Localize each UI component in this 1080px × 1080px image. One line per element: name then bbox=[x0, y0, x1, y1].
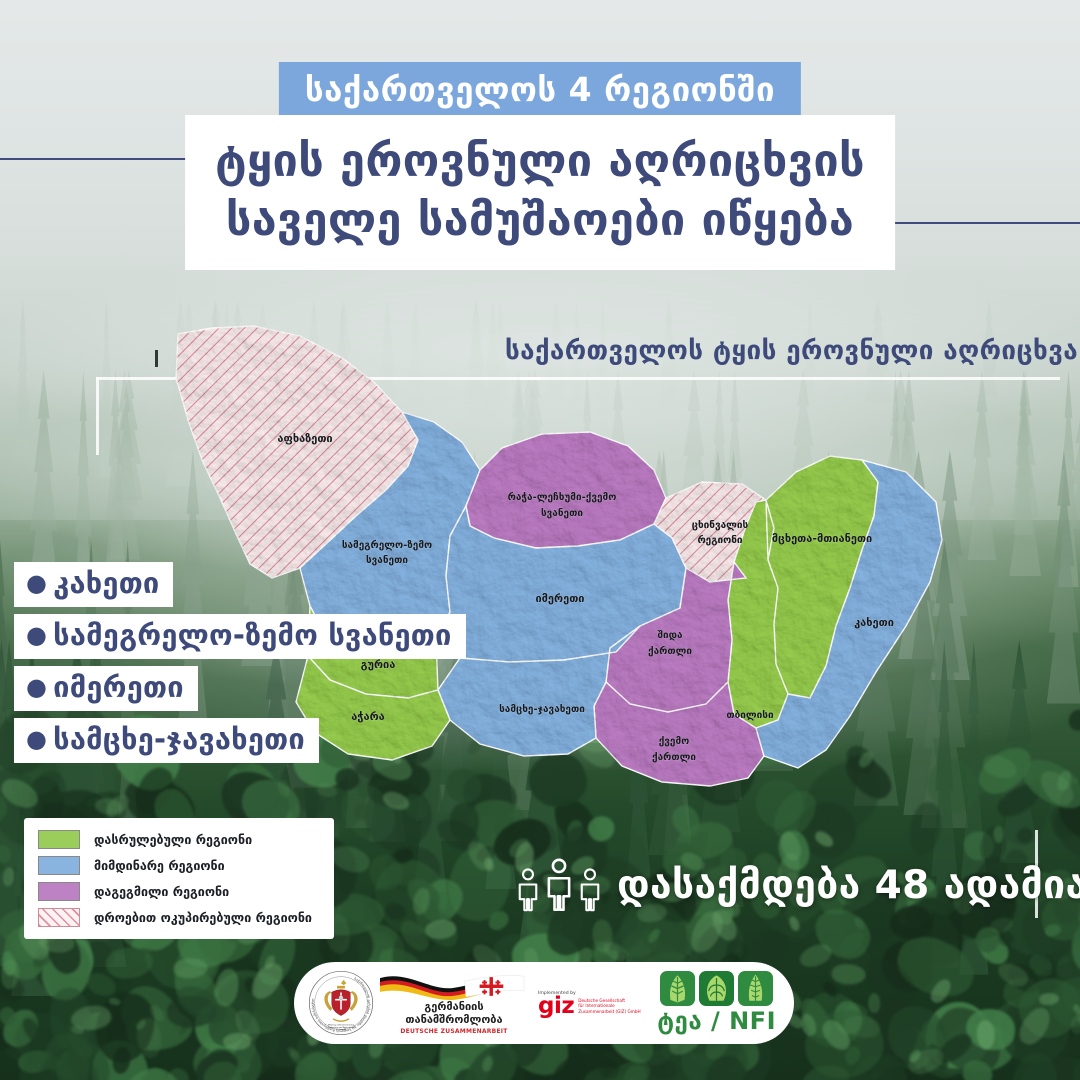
bullet-dot-icon: ● bbox=[26, 725, 47, 753]
legend-row-occupied: დროებით ოკუპირებული რეგიონი bbox=[38, 908, 312, 927]
nfi-logo: ტეა / NFI bbox=[657, 971, 776, 1035]
bullet-dot-icon: ● bbox=[26, 569, 47, 597]
german-coop-label-1: გერმანიის bbox=[378, 1001, 530, 1013]
leaf-icon-1 bbox=[660, 971, 695, 1006]
region-label-kvemo-1: ქვემო bbox=[659, 735, 690, 747]
region-label-tskhinvali-2: რეგიონი bbox=[697, 534, 742, 546]
ministry-seal-logo: საქართველოს გარემოს დაცვისა და სოფლის მე… bbox=[308, 970, 374, 1036]
legend-row-planned: დაგეგმილი რეგიონი bbox=[38, 882, 312, 901]
bullet-item-3: ●სამცხე-ჯავახეთი bbox=[14, 718, 319, 763]
region-label-samegrelo-1: სამეგრელო-ზემო bbox=[342, 539, 432, 551]
bullet-label-0: კახეთი bbox=[53, 566, 159, 600]
person-icon bbox=[515, 868, 541, 912]
german-coop-label-2: თანამშრომლობა bbox=[378, 1014, 530, 1026]
region-label-racha-2: სვანეთი bbox=[541, 507, 583, 519]
legend-label-ongoing: მიმდინარე რეგიონი bbox=[94, 858, 225, 873]
leaf-icon-3 bbox=[738, 971, 773, 1006]
person-icon bbox=[577, 868, 603, 912]
map-legend: დასრულებული რეგიონი მიმდინარე რეგიონი და… bbox=[24, 818, 334, 939]
employment-stat: დასაქმდება 48 ადამიანი bbox=[515, 858, 1080, 912]
map-frame-left bbox=[96, 377, 99, 455]
region-label-shida-1: შიდა bbox=[657, 629, 683, 641]
legend-swatch-ongoing bbox=[38, 856, 80, 875]
people-group-icon bbox=[515, 858, 603, 912]
bullet-item-1: ●სამეგრელო-ზემო სვანეთი bbox=[14, 614, 466, 659]
giz-subtitle: Deutsche Gesellschaft für Internationale… bbox=[578, 998, 640, 1014]
giz-logo: Implemented by giz Deutsche Gesellschaft… bbox=[534, 991, 646, 1015]
bullet-dot-icon: ● bbox=[26, 673, 47, 701]
legend-label-planned: დაგეგმილი რეგიონი bbox=[94, 884, 229, 899]
bullet-label-2: იმერეთი bbox=[53, 670, 184, 704]
giz-subtitle-3: Zusammenarbeit (GIZ) GmbH bbox=[578, 1009, 640, 1014]
legend-swatch-occupied bbox=[38, 908, 80, 927]
bullet-dot-icon: ● bbox=[26, 621, 47, 649]
svg-text:Protection and Agriculture: Protection and Agriculture bbox=[328, 1026, 355, 1029]
german-coop-label-3: DEUTSCHE ZUSAMMENARBEIT bbox=[378, 1028, 530, 1035]
region-label-kakheti: კახეთი bbox=[854, 616, 894, 629]
region-label-tbilisi: თბილისი bbox=[726, 709, 774, 721]
footer-logo-bar: საქართველოს გარემოს დაცვისა და სოფლის მე… bbox=[294, 962, 794, 1044]
svg-text:Ministry of Environmental: Ministry of Environmental bbox=[328, 1023, 355, 1026]
person-icon bbox=[543, 858, 575, 912]
legend-row-completed: დასრულებული რეგიონი bbox=[38, 830, 312, 849]
bullet-item-2: ●იმერეთი bbox=[14, 666, 198, 711]
giz-wordmark: giz bbox=[538, 997, 574, 1015]
legend-swatch-completed bbox=[38, 830, 80, 849]
region-label-shida-2: ქართლი bbox=[648, 645, 692, 657]
nfi-label: ტეა / NFI bbox=[657, 1007, 776, 1035]
leaf-icon-2 bbox=[699, 971, 734, 1006]
page-title-line-1: ტყის ეროვნული აღრიცხვის bbox=[215, 131, 865, 190]
region-label-abkhazeti: აფხაზეთი bbox=[277, 432, 332, 445]
legend-label-occupied: დროებით ოკუპირებული რეგიონი bbox=[94, 910, 312, 925]
svg-text:of Georgia: of Georgia bbox=[336, 1028, 347, 1031]
region-label-samtskhe: სამცხე-ჯავახეთი bbox=[499, 703, 585, 715]
legend-label-completed: დასრულებული რეგიონი bbox=[94, 832, 252, 847]
bullet-item-0: ●კახეთი bbox=[14, 562, 173, 607]
legend-swatch-planned bbox=[38, 882, 80, 901]
bullet-label-3: სამცხე-ჯავახეთი bbox=[53, 722, 305, 756]
region-label-imereti: იმერეთი bbox=[535, 592, 584, 605]
region-label-mtskheta: მცხეთა-მთიანეთი bbox=[772, 532, 873, 545]
employment-stat-text: დასაქმდება 48 ადამიანი bbox=[617, 863, 1080, 908]
region-label-kvemo-2: ქართლი bbox=[652, 751, 696, 763]
giz-wordmark-row: giz Deutsche Gesellschaft für Internatio… bbox=[538, 997, 646, 1015]
region-bullet-list: ●კახეთი ●სამეგრელო-ზემო სვანეთი ●იმერეთი… bbox=[14, 562, 466, 770]
bullet-label-1: სამეგრელო-ზემო სვანეთი bbox=[53, 618, 451, 652]
region-label-tskhinvali-1: ცხინვალის bbox=[692, 519, 749, 531]
header-badge: საქართველოს 4 რეგიონში bbox=[279, 62, 801, 120]
region-label-racha-1: რაჭა-ლეჩხუმი-ქვემო bbox=[508, 491, 617, 503]
page-title-line-2: საველე სამუშაოები იწყება bbox=[215, 190, 865, 249]
region-shape-racha bbox=[466, 432, 666, 548]
legend-row-ongoing: მიმდინარე რეგიონი bbox=[38, 856, 312, 875]
german-georgian-flag-ribbon bbox=[378, 971, 526, 1001]
german-cooperation-logo: გერმანიის თანამშრომლობა DEUTSCHE ZUSAMME… bbox=[378, 971, 530, 1035]
page-title: ტყის ეროვნული აღრიცხვის საველე სამუშაოებ… bbox=[185, 115, 895, 270]
nfi-leaf-icons bbox=[657, 971, 776, 1006]
